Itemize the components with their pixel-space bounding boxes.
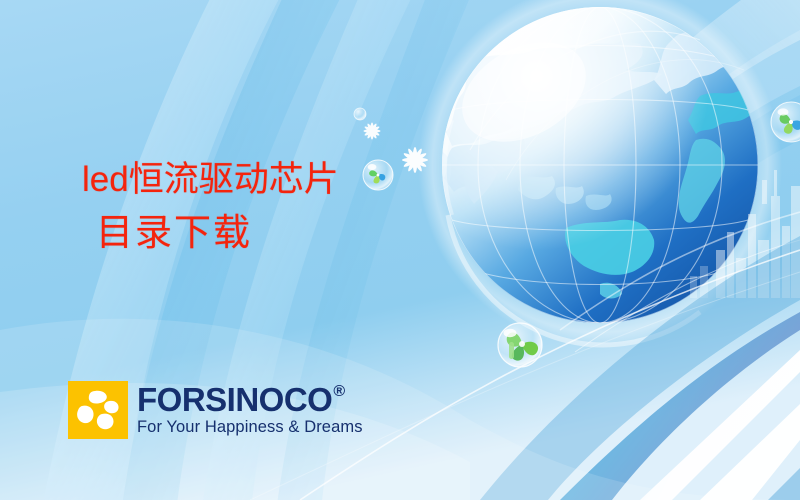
registered-trademark-icon: ® [333, 384, 344, 400]
logo-wordmark: FORSINOCO ® [137, 383, 363, 416]
globe-highlight [442, 7, 758, 323]
company-logo[interactable]: FORSINOCO ® For Your Happiness & Dreams [68, 381, 363, 439]
four-petal-pinwheel-icon [68, 381, 128, 439]
headline-block: led恒流驱动芯片 目录下载 [82, 160, 339, 256]
logo-text-block: FORSINOCO ® For Your Happiness & Dreams [137, 383, 363, 436]
logo-wordmark-text: FORSINOCO [137, 383, 332, 416]
logo-tagline: For Your Happiness & Dreams [137, 418, 363, 436]
bubble-pinwheel-small [363, 160, 393, 190]
headline-line-2: 目录下载 [96, 213, 339, 256]
bubble-plain-tiny [354, 108, 366, 120]
bubble-pinwheel-large [498, 323, 542, 367]
banner-root: led恒流驱动芯片 目录下载 FORSINOCO ® For Your Happ… [0, 0, 800, 500]
headline-line-1: led恒流驱动芯片 [82, 160, 339, 201]
